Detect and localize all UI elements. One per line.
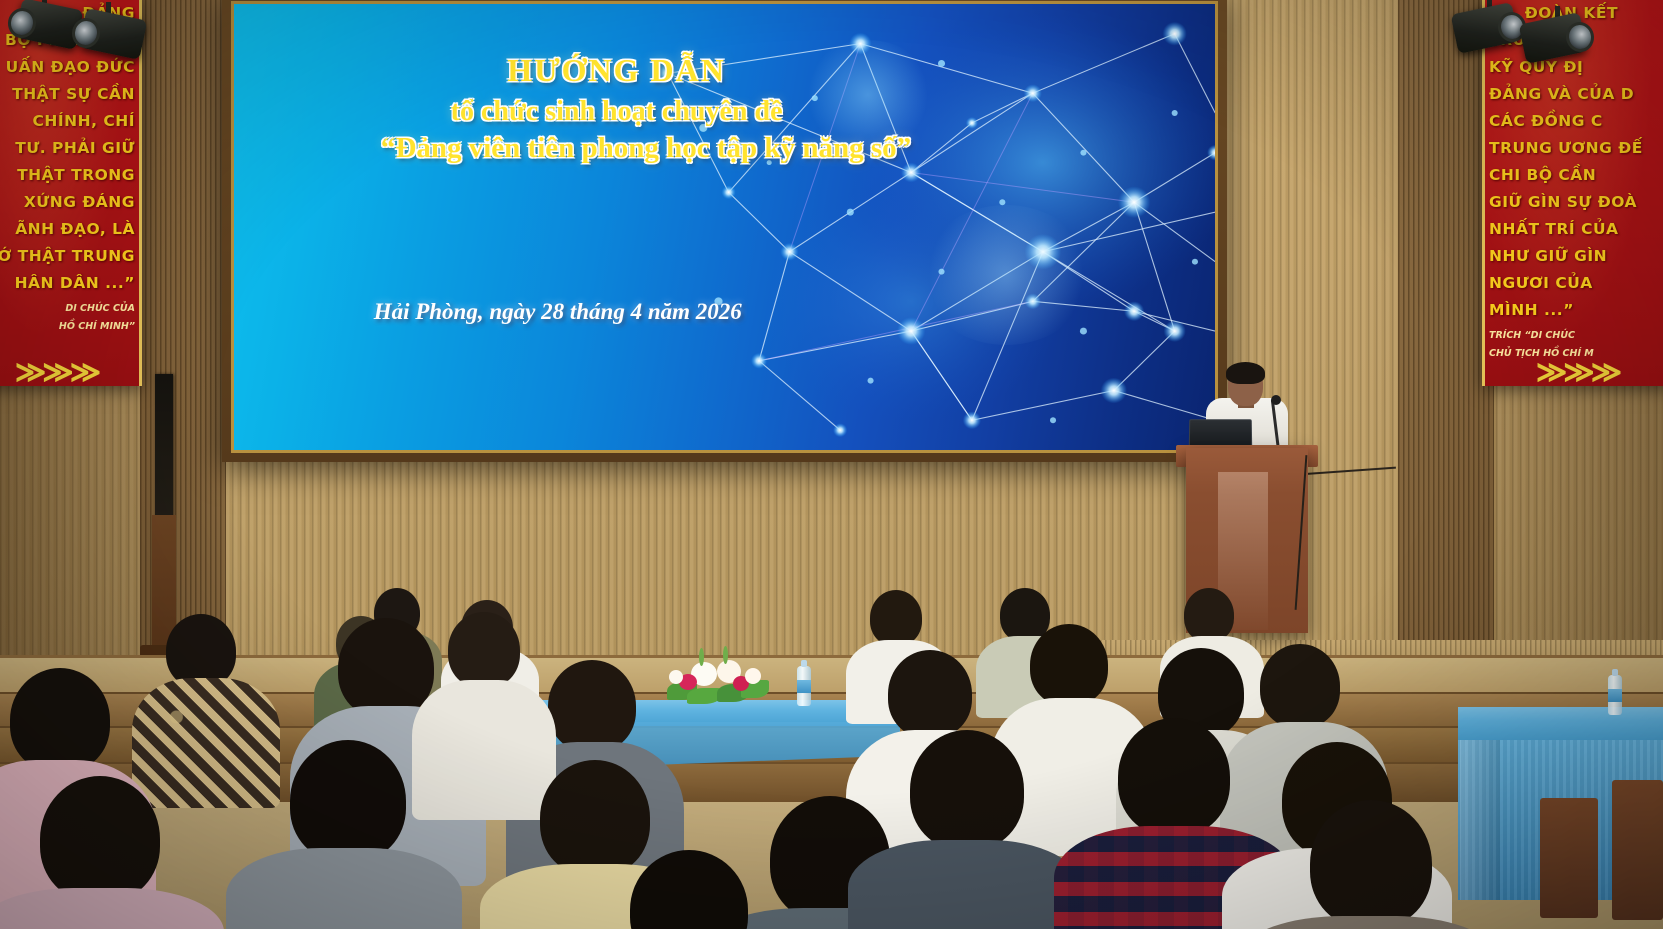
right-table-fold (1460, 740, 1500, 900)
water-bottle (797, 666, 811, 706)
slide-place-date: Hải Phòng, ngày 28 tháng 4 năm 2026 (234, 299, 881, 325)
presenter-hair (1226, 362, 1265, 384)
banner-right-line: CÁC ĐỒNG C (1489, 108, 1663, 135)
speaker-column (155, 374, 173, 518)
chair (1540, 798, 1598, 918)
banner-left-attribution: HỒ CHÍ MINH” (0, 320, 135, 333)
led-screen-frame: HƯỚNG DẪN tổ chức sinh hoạt chuyên đề “Đ… (222, 0, 1227, 462)
flower-arrangement (665, 652, 775, 704)
slide-text-block: HƯỚNG DẪN tổ chức sinh hoạt chuyên đề “Đ… (234, 4, 1215, 450)
led-screen-display: HƯỚNG DẪN tổ chức sinh hoạt chuyên đề “Đ… (234, 4, 1215, 450)
stage-spotlight-icon (72, 12, 146, 58)
banner-left-line: TƯ. PHẢI GIỮ (0, 135, 135, 162)
water-bottle (1608, 675, 1622, 715)
banner-right-line: GIỮ GÌN SỰ ĐOÀ (1489, 189, 1663, 216)
banner-left-attribution: DI CHÚC CỦA (0, 302, 135, 315)
banner-left-line: ÃNH ĐẠO, LÀ (0, 216, 135, 243)
stage-spotlight-icon (1520, 16, 1594, 62)
banner-left-line: THẬT TRONG (0, 162, 135, 189)
conference-hall-scene: ... ĐẢNG BỘ PHẢI THẬT UẤN ĐẠO ĐỨC THẬT S… (0, 0, 1663, 929)
banner-right-line: TRUNG ƯƠNG ĐẾ (1489, 135, 1663, 162)
chair (1612, 780, 1663, 920)
banner-left-line: HÂN DÂN ...” (0, 270, 135, 297)
banner-right-attribution: TRÍCH “DI CHÚC (1489, 329, 1663, 342)
bottle-label (1608, 689, 1622, 702)
right-draped-table (1458, 707, 1663, 741)
banner-left-flourish-icon: ≫≫≫ (0, 356, 139, 386)
slide-subtitle: tổ chức sinh hoạt chuyên đề (234, 96, 999, 128)
stage-spotlight-icon (1452, 6, 1526, 52)
led-screen-gold-trim: HƯỚNG DẪN tổ chức sinh hoạt chuyên đề “Đ… (231, 1, 1218, 453)
banner-left-line: UẤN ĐẠO ĐỨC (0, 54, 135, 81)
podium-microphone-icon (1271, 395, 1281, 405)
banner-left-line: THẬT SỰ CẦN (0, 81, 135, 108)
banner-right-line: CHI BỘ CẦN (1489, 162, 1663, 189)
banner-right-line: NHƯ GIỮ GÌN (1489, 243, 1663, 270)
stage-spotlight-icon (8, 2, 82, 48)
bottle-label (797, 680, 811, 693)
banner-right-line: NHẤT TRÍ CỦA (1489, 216, 1663, 243)
banner-left-line: CHÍNH, CHÍ (0, 108, 135, 135)
slide-theme: “Đảng viên tiên phong học tập kỹ năng số… (234, 132, 1058, 165)
banner-right-line: NGƯƠI CỦA (1489, 270, 1663, 297)
banner-left-line: XỨNG ĐÁNG (0, 189, 135, 216)
banner-right-line: ĐẢNG VÀ CỦA D (1489, 81, 1663, 108)
banner-right-line: MÌNH ...” (1489, 297, 1663, 324)
banner-right-flourish-icon: ≫≫≫ (1485, 356, 1663, 386)
banner-left-line: Ớ THẬT TRUNG (0, 243, 135, 270)
slide-title: HƯỚNG DẪN (234, 52, 999, 89)
